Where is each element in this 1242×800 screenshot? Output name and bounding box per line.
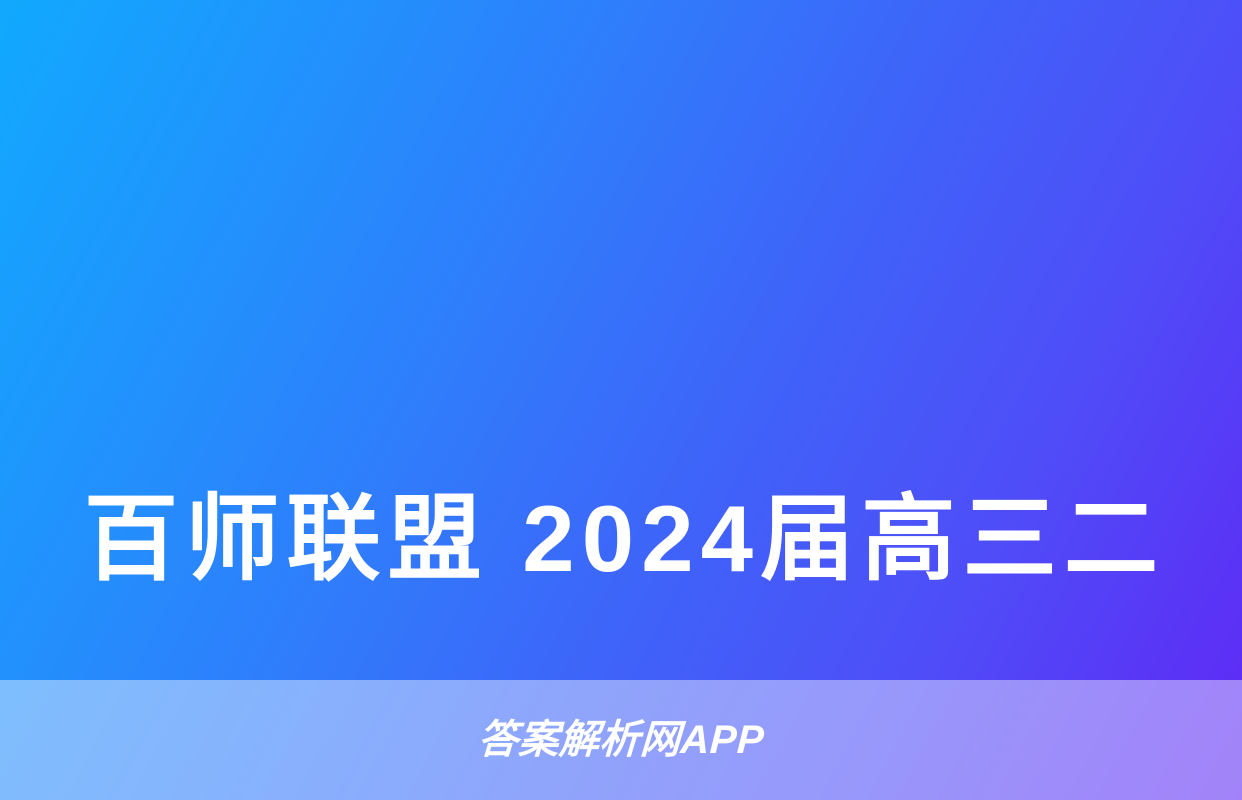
title-line-1-text: 百师联盟 2024届高三二 (84, 466, 1165, 611)
title-line-1: 百师联盟 2024届高三二 (84, 466, 1158, 611)
watermark-label: 答案解析网APP (477, 720, 765, 760)
watermark-band: 答案解析网APP (0, 680, 1242, 800)
answer-card: 百师联盟 2024届高三二 轮复习联考(一)1生物(吉 林省)答案 答案解析网A… (0, 0, 1242, 800)
